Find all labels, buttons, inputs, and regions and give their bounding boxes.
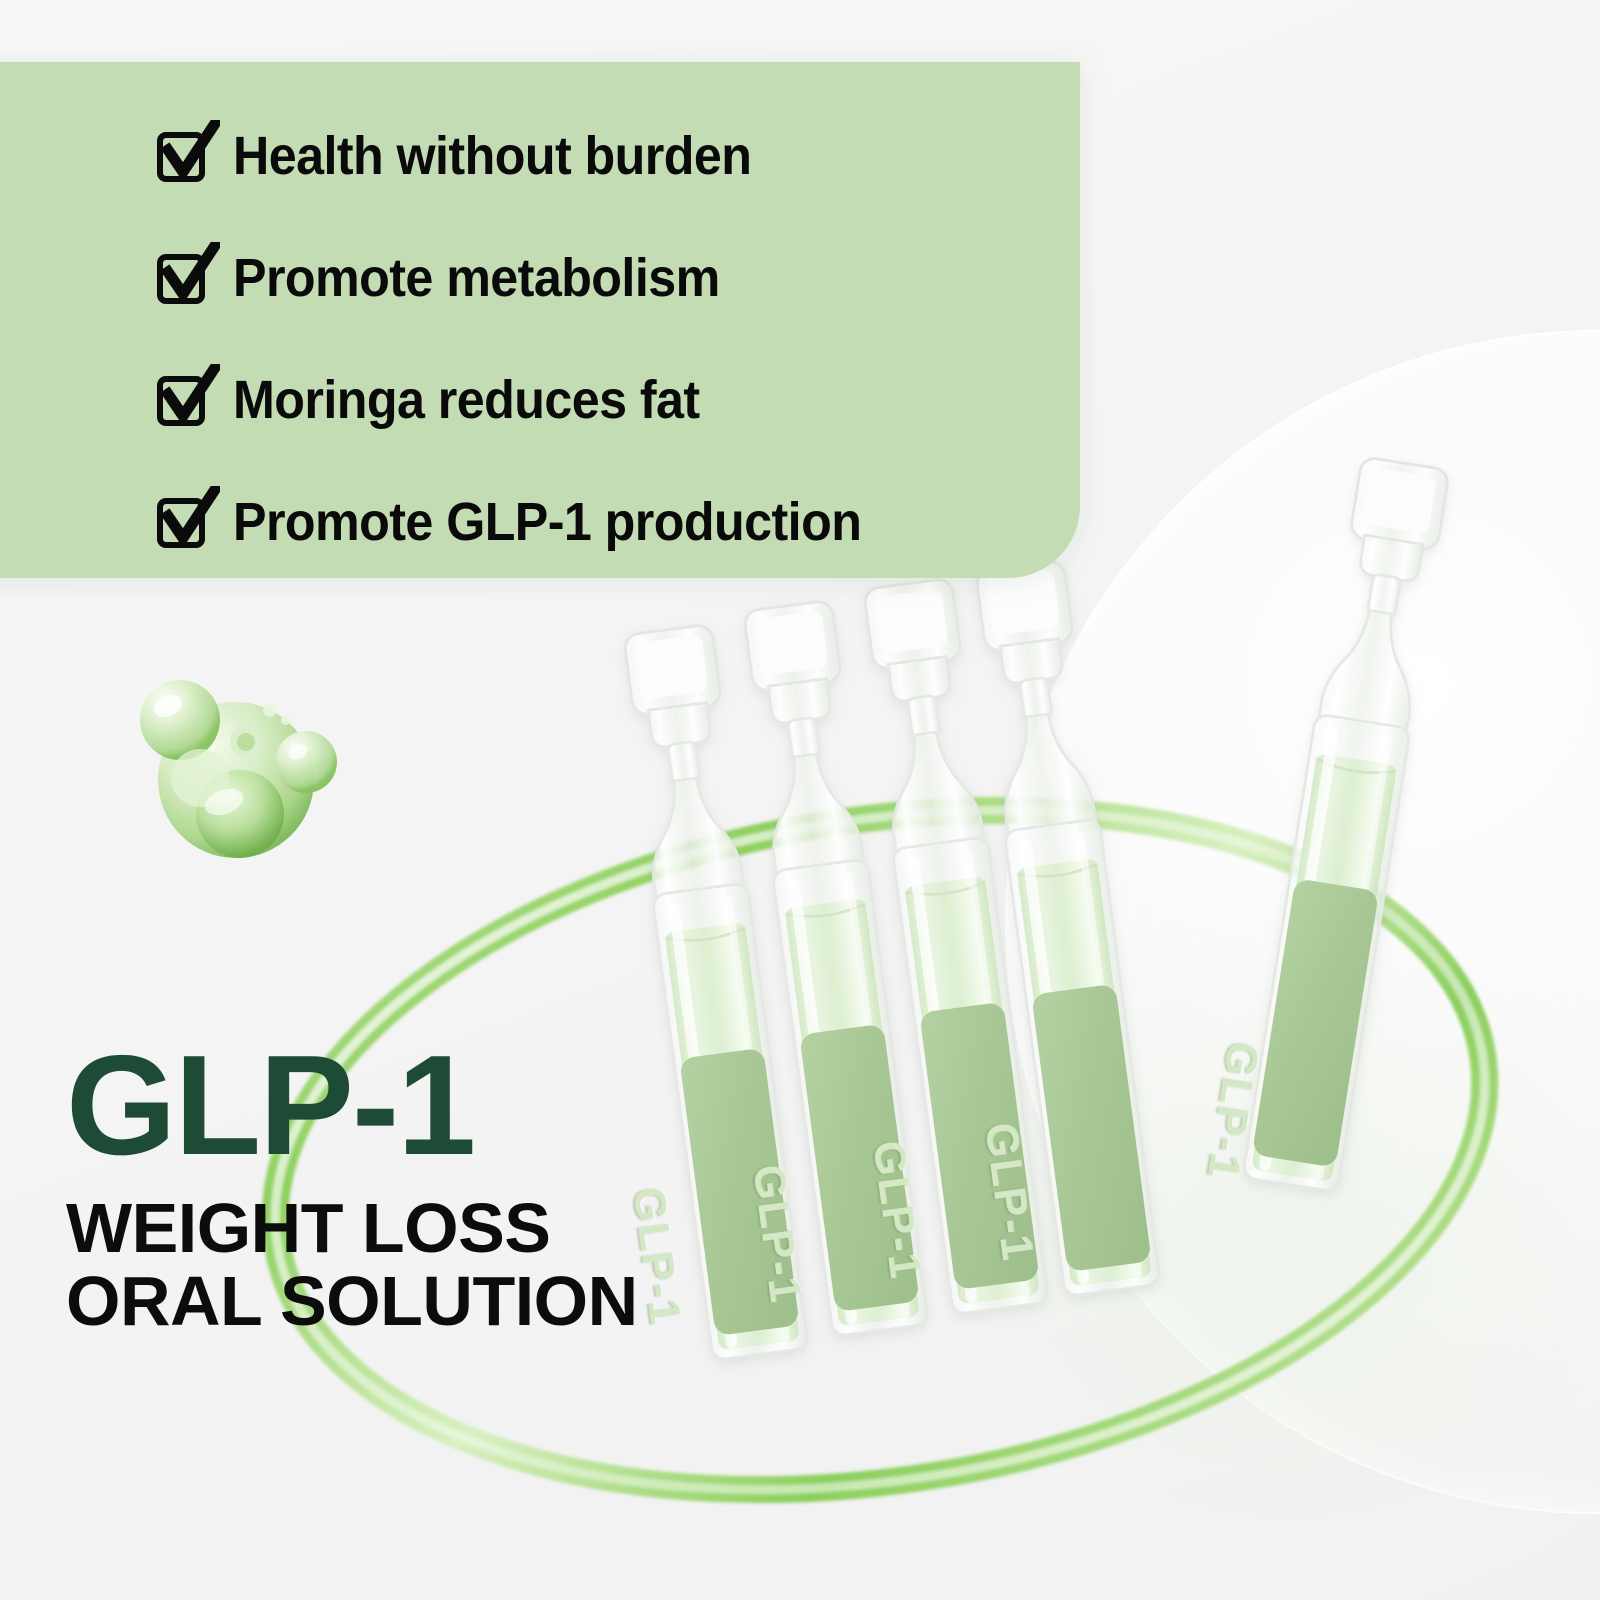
- features-panel: Health without burden Promote metabolism: [0, 62, 1080, 578]
- background-glow: [880, 900, 1600, 1600]
- headline-block: GLP-1 WEIGHT LOSS ORAL SOLUTION: [66, 1038, 826, 1338]
- headline-subtitle-line-1: WEIGHT LOSS: [66, 1192, 826, 1265]
- feature-label: Promote metabolism: [233, 251, 720, 305]
- ampoule-label-5: GLP-1: [1197, 1038, 1268, 1184]
- checkbox-checked-icon: [155, 126, 211, 186]
- green-bubble-molecule-icon: [118, 662, 348, 877]
- ampoule-label-3: GLP-1: [862, 1138, 930, 1283]
- checkbox-checked-icon: [155, 370, 211, 430]
- feature-item: Moringa reduces fat: [155, 346, 1055, 454]
- background-circle-arc-icon: [1005, 330, 1600, 1514]
- product-poster: GLP-1 GLP-1 GLP-1 GLP-1 GLP-1: [0, 0, 1600, 1600]
- checkbox-checked-icon: [155, 492, 211, 552]
- feature-item: Health without burden: [155, 102, 1055, 210]
- feature-label: Moringa reduces fat: [233, 373, 700, 427]
- headline-subtitle: WEIGHT LOSS ORAL SOLUTION: [66, 1192, 826, 1338]
- feature-item: Promote GLP-1 production: [155, 468, 1055, 576]
- features-list: Health without burden Promote metabolism: [155, 102, 1055, 590]
- feature-label: Promote GLP-1 production: [233, 495, 861, 549]
- page-title: GLP-1: [66, 1038, 826, 1174]
- checkbox-checked-icon: [155, 248, 211, 308]
- headline-subtitle-line-2: ORAL SOLUTION: [66, 1265, 826, 1338]
- ampoule-label-4: GLP-1: [974, 1120, 1042, 1265]
- feature-label: Health without burden: [233, 129, 751, 183]
- feature-item: Promote metabolism: [155, 224, 1055, 332]
